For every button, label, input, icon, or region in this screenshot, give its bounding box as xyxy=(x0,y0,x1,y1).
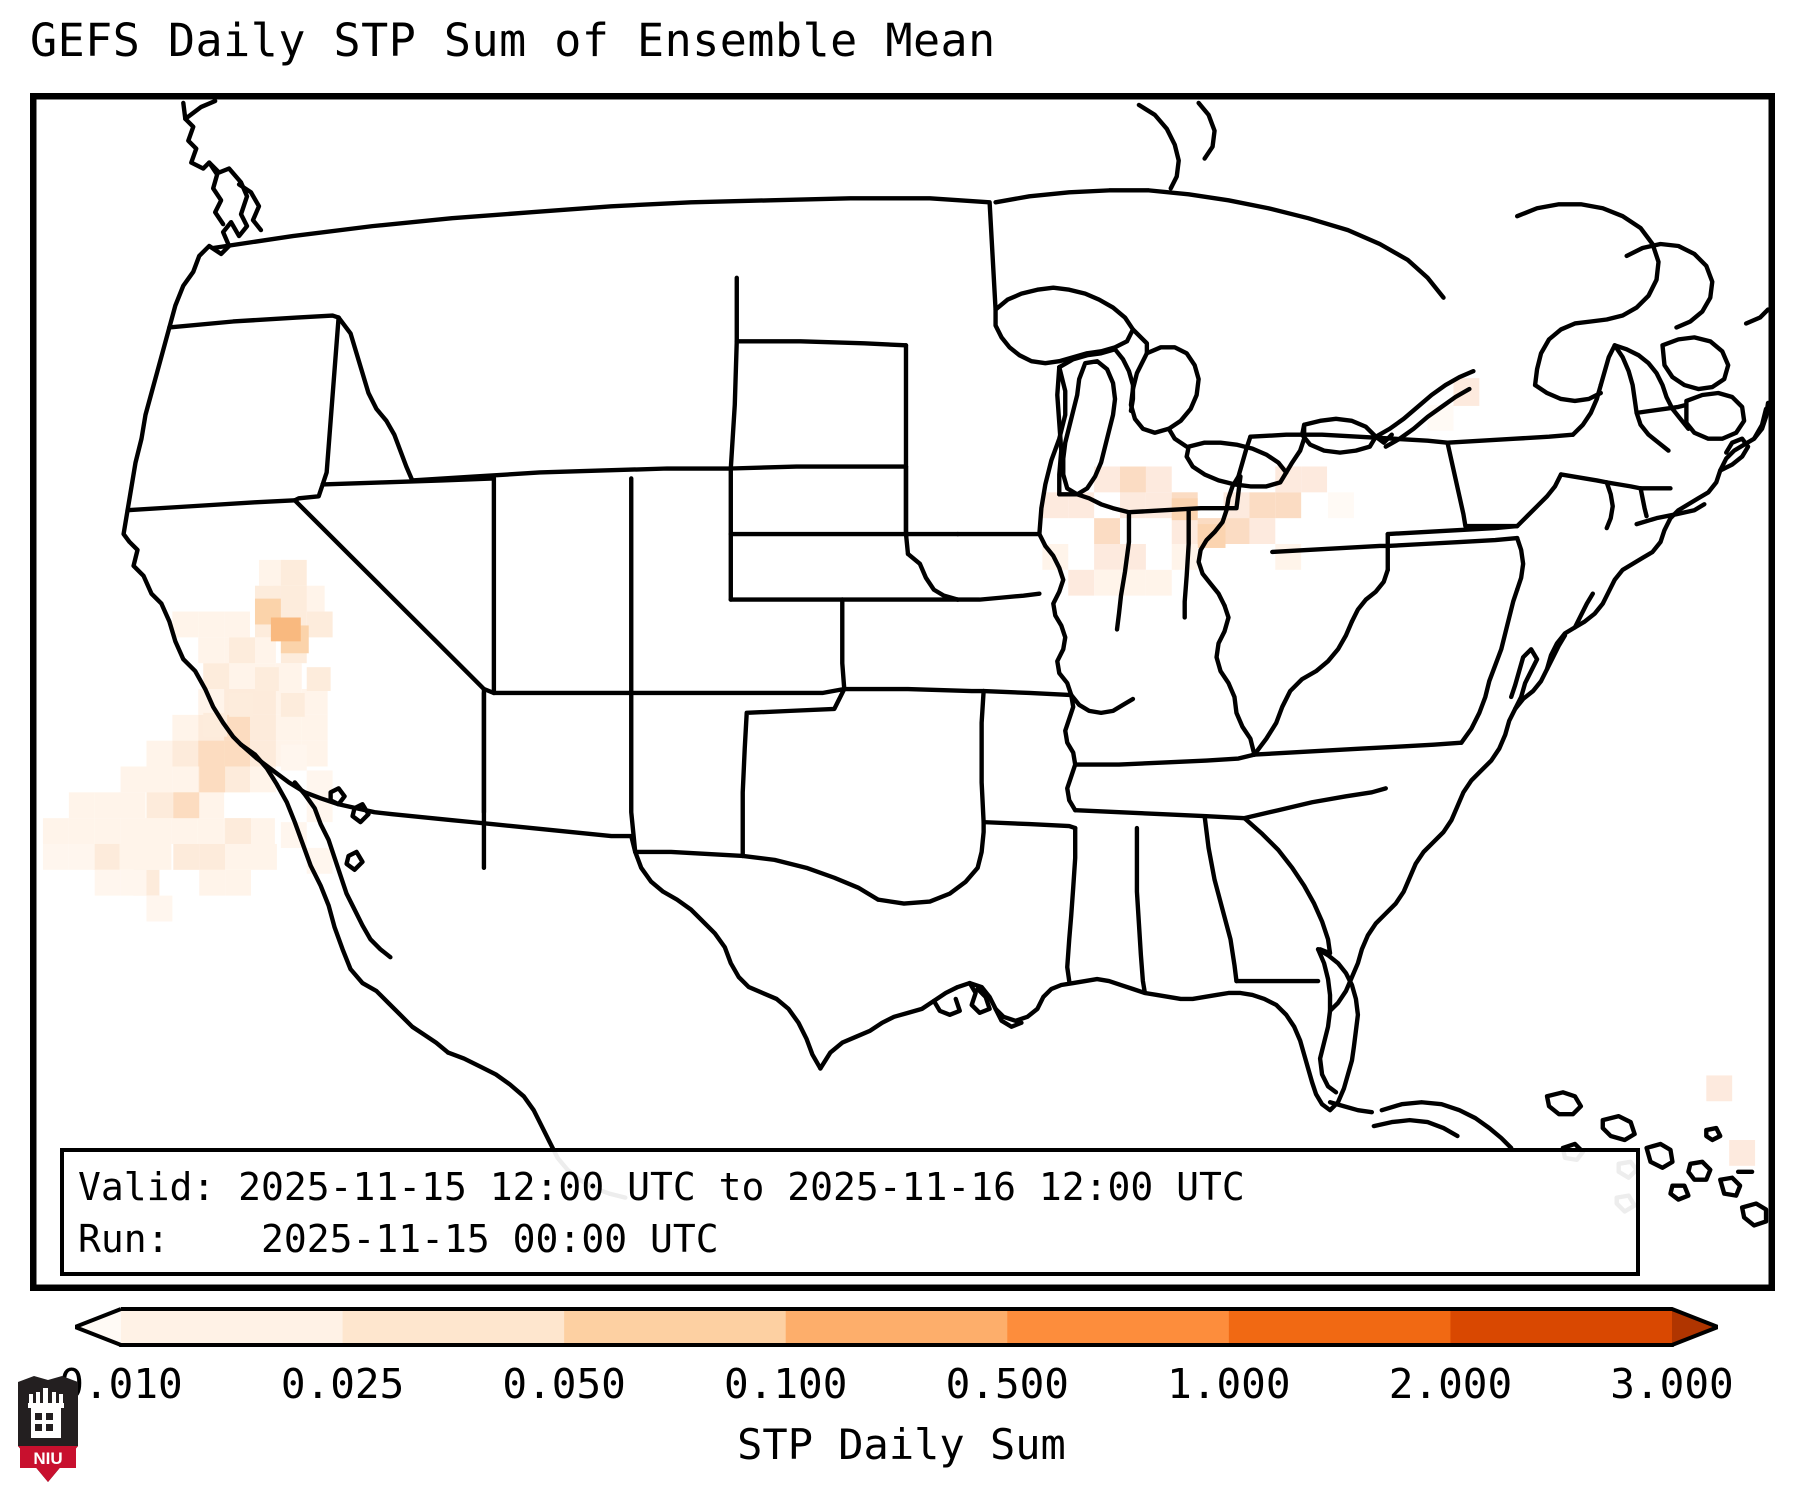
page-title: GEFS Daily STP Sum of Ensemble Mean xyxy=(30,12,996,70)
colorbar-tick-label: 0.100 xyxy=(724,1360,847,1408)
run-time-line: Run: 2025-11-15 00:00 UTC xyxy=(78,1213,1622,1265)
colorbar-segment xyxy=(121,1309,343,1345)
valid-time-line: Valid: 2025-11-15 12:00 UTC to 2025-11-1… xyxy=(78,1161,1622,1213)
colorbar-tick-label: 0.050 xyxy=(502,1360,625,1408)
colorbar-segment xyxy=(1007,1309,1229,1345)
map-panel xyxy=(30,93,1775,1291)
colorbar-over-arrow xyxy=(1672,1309,1718,1345)
colorbar[interactable] xyxy=(75,1307,1718,1347)
colorbar-tick-label: 2.000 xyxy=(1389,1360,1512,1408)
niu-banner-text: NIU xyxy=(33,1449,62,1468)
colorbar-segments xyxy=(121,1309,1673,1345)
colorbar-axis-label: STP Daily Sum xyxy=(0,1418,1803,1472)
colorbar-tick-label: 3.000 xyxy=(1610,1360,1733,1408)
colorbar-tick-label: 0.500 xyxy=(946,1360,1069,1408)
colorbar-segment xyxy=(564,1309,786,1345)
figure-canvas: GEFS Daily STP Sum of Ensemble Mean xyxy=(0,0,1803,1500)
colorbar-tick-labels: 0.0100.0250.0500.1000.5001.0002.0003.000 xyxy=(0,1360,1803,1412)
colorbar-segment xyxy=(1229,1309,1451,1345)
colorbar-segment xyxy=(1450,1309,1672,1345)
niu-shield-logo: NIU xyxy=(14,1374,82,1484)
colorbar-tick-label: 0.025 xyxy=(281,1360,404,1408)
map-canvas xyxy=(34,97,1771,1287)
geography-layer xyxy=(124,101,1768,1225)
colorbar-segment xyxy=(786,1309,1008,1345)
valid-run-info-box: Valid: 2025-11-15 12:00 UTC to 2025-11-1… xyxy=(60,1148,1640,1276)
colorbar-segment xyxy=(343,1309,565,1345)
niu-logo-graphic: NIU xyxy=(14,1374,82,1484)
colorbar-under-arrow xyxy=(75,1309,121,1345)
colorbar-canvas xyxy=(75,1307,1718,1347)
colorbar-tick-label: 1.000 xyxy=(1167,1360,1290,1408)
